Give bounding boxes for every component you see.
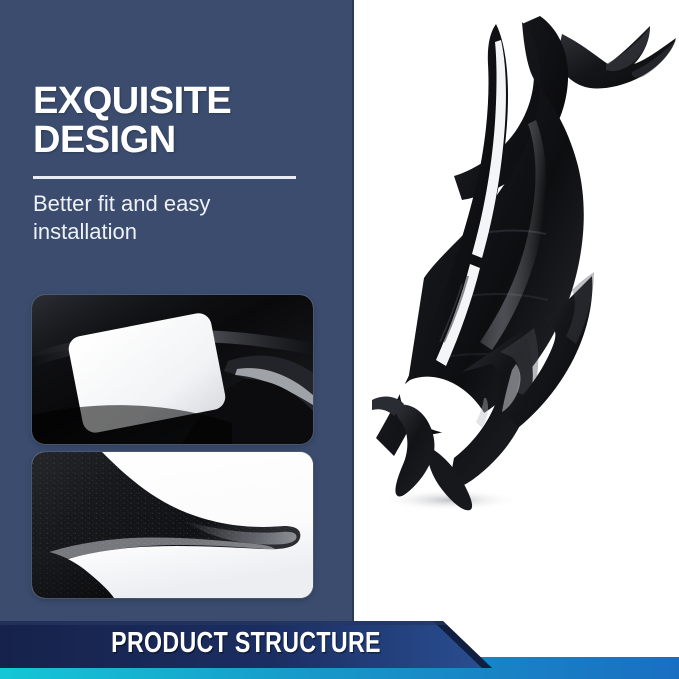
page-title: EXQUISITE DESIGN bbox=[33, 82, 323, 160]
automotive-trim-panel-illustration bbox=[356, 0, 679, 560]
subtitle: Better fit and easy installation bbox=[33, 190, 303, 246]
title-divider bbox=[33, 176, 296, 179]
glossy-surface-illustration bbox=[32, 295, 313, 444]
headline-line-1: EXQUISITE bbox=[33, 80, 231, 122]
textured-fin-illustration bbox=[32, 452, 313, 598]
product-photo-area bbox=[356, 0, 679, 621]
bottom-banner: PRODUCT STRUCTURE bbox=[0, 621, 679, 679]
banner-shapes bbox=[0, 621, 679, 679]
left-info-panel: EXQUISITE DESIGN Better fit and easy ins… bbox=[0, 0, 354, 621]
inset-photo-glossy-surface bbox=[32, 295, 313, 444]
inset-photo-textured-fin bbox=[32, 452, 313, 598]
headline-line-2: DESIGN bbox=[33, 121, 323, 160]
product-marketing-image: EXQUISITE DESIGN Better fit and easy ins… bbox=[0, 0, 679, 679]
